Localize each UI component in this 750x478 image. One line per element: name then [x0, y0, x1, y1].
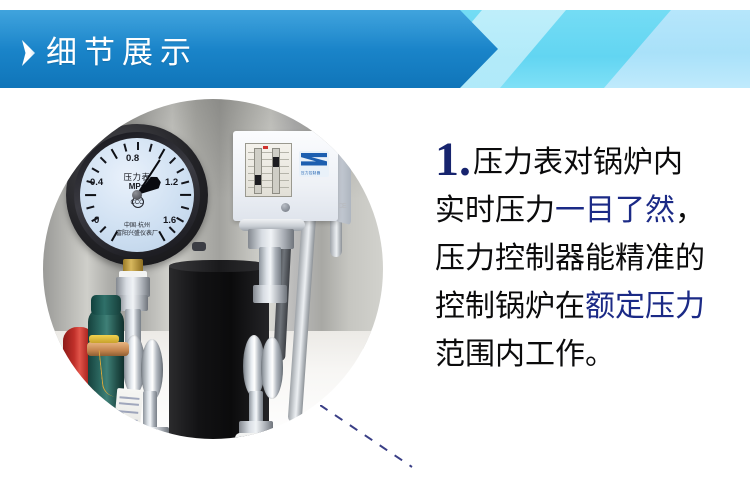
- controller-scale-window: [245, 143, 292, 197]
- gauge-tick: [158, 149, 165, 160]
- detail-photo: 0 0.4 0.8 1.2 1.6 压力表 MPa CCC 中国·杭州 富阳兴盛…: [43, 99, 383, 439]
- controller-brand-logo: 压力控制器: [299, 151, 329, 177]
- gauge-face: 0 0.4 0.8 1.2 1.6 压力表 MPa CCC 中国·杭州 富阳兴盛…: [80, 138, 194, 252]
- gauge-union-nut: [116, 277, 150, 297]
- pressure-gauge: 0 0.4 0.8 1.2 1.6 压力表 MPa CCC 中国·杭州 富阳兴盛…: [66, 124, 208, 266]
- controller-logo-text: 压力控制器: [301, 171, 320, 176]
- copy-line-4: 控制锅炉在额定压力: [435, 283, 735, 331]
- copy-number: 1.: [435, 133, 471, 186]
- copy-line-2: 实时压力一目了然，: [435, 187, 735, 235]
- controller-pipe: [259, 247, 281, 287]
- copy-line-5-text: 范围内工作。: [435, 338, 615, 371]
- copy-line-2-highlight: 一目了然: [555, 194, 675, 227]
- controller-diff-indicator: [255, 175, 261, 185]
- controller-logo-glyph: [301, 153, 327, 169]
- controller-range-slot[interactable]: [272, 148, 280, 194]
- copy-line-5: 范围内工作。: [435, 331, 735, 379]
- tag-text-line: [116, 433, 136, 436]
- copy-line-4-seg-1: 控制锅炉在: [435, 290, 585, 323]
- insulator-right: [235, 433, 277, 439]
- copy-line-2-seg-3: ，: [675, 194, 705, 227]
- gauge-maker-label: 富阳兴盛仪表厂: [80, 228, 194, 237]
- gauge-tick: [180, 194, 191, 196]
- tag-text-line: [117, 426, 137, 429]
- gauge-tick: [86, 206, 94, 210]
- gauge-needle-hub: [132, 190, 142, 200]
- gauge-tick: [149, 144, 153, 152]
- copy-line-1: 1.压力表对锅炉内: [435, 136, 735, 187]
- gauge-tick: [111, 149, 118, 160]
- header-banner: 细节展示: [0, 10, 750, 88]
- siphon-nut-left: [135, 427, 169, 439]
- tag-text-line: [119, 402, 139, 405]
- controller-diff-slot[interactable]: [254, 148, 262, 194]
- banner-title: 细节展示: [46, 36, 198, 70]
- copy-line-1-text: 压力表对锅炉内: [473, 146, 683, 179]
- dashed-pointer-line: [320, 405, 440, 475]
- copy-line-4-highlight: 额定压力: [585, 290, 705, 323]
- controller-ce-mark: CE: [338, 203, 346, 210]
- description-copy: 1.压力表对锅炉内 实时压力一目了然， 压力控制器能精准的 控制锅炉在额定压力 …: [435, 136, 735, 379]
- chevron-right-icon: [20, 40, 36, 66]
- inspection-tag: [113, 388, 143, 439]
- gauge-tick: [181, 206, 189, 210]
- copy-line-2-seg-1: 实时压力: [435, 194, 555, 227]
- tag-text-line: [118, 410, 138, 413]
- controller-red-marker: [263, 146, 268, 149]
- boiler-drum-top: [169, 260, 269, 272]
- controller-nut: [248, 229, 294, 249]
- copy-line-3: 压力控制器能精准的: [435, 235, 735, 283]
- gauge-tick: [100, 157, 107, 164]
- tag-text-line: [119, 396, 139, 399]
- gauge-scale-label-08: 0.8: [126, 154, 139, 164]
- controller-range-indicator: [273, 157, 279, 167]
- detail-photo-circle: 0 0.4 0.8 1.2 1.6 压力表 MPa CCC 中国·杭州 富阳兴盛…: [43, 99, 383, 439]
- green-cylinder-cap: [91, 295, 121, 315]
- gauge-tick: [169, 157, 176, 164]
- gauge-side-stub: [192, 242, 206, 251]
- gauge-cert-mark: CCC: [80, 200, 194, 206]
- tag-text-line: [118, 418, 138, 421]
- gauge-tick: [85, 194, 96, 196]
- cylinder-valve-knob: [89, 335, 119, 343]
- controller-screw: [281, 203, 290, 212]
- detail-showcase-page: 细节展示: [0, 0, 750, 478]
- pressure-controller: 压力控制器: [233, 131, 338, 221]
- gauge-tick: [123, 144, 127, 152]
- copy-line-3-text: 压力控制器能精准的: [435, 242, 705, 275]
- siphon-coil-right-b: [261, 337, 283, 399]
- gauge-tick: [137, 142, 139, 150]
- controller-nut-2: [253, 285, 287, 303]
